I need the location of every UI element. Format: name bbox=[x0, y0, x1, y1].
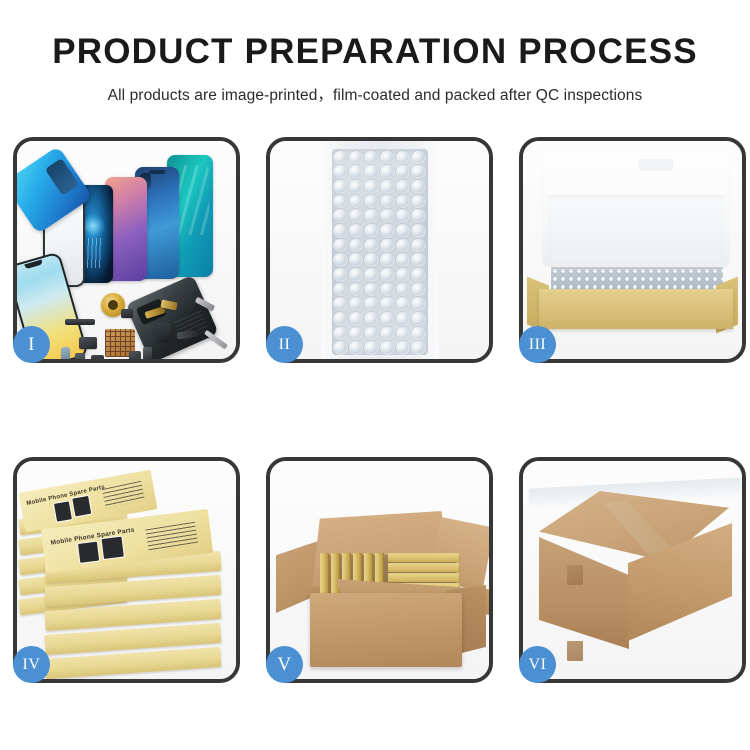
small-part bbox=[157, 323, 171, 341]
step-badge-4: IV bbox=[13, 646, 50, 683]
bubble bbox=[349, 327, 364, 341]
bubble bbox=[349, 283, 364, 297]
bubble bbox=[349, 151, 364, 165]
retail-box-stack: Mobile Phone Spare PartsMobile Phone Spa… bbox=[17, 461, 236, 679]
bubble bbox=[333, 165, 348, 179]
bubble bbox=[364, 195, 379, 209]
step-badge-3: III bbox=[519, 326, 556, 363]
bubble bbox=[333, 268, 348, 282]
bubble bbox=[411, 268, 426, 282]
bubble bbox=[349, 209, 364, 223]
bubble bbox=[333, 209, 348, 223]
carton-handle-cutout bbox=[567, 565, 583, 585]
small-part bbox=[75, 353, 85, 359]
sim-tray-part bbox=[61, 347, 70, 359]
step-badge-6: VI bbox=[519, 646, 556, 683]
bubble bbox=[333, 180, 348, 194]
bubble bbox=[411, 209, 426, 223]
bubble bbox=[411, 341, 426, 355]
bubble bbox=[364, 151, 379, 165]
small-part bbox=[129, 351, 141, 359]
bubble bbox=[411, 195, 426, 209]
bubble bbox=[349, 341, 364, 355]
bubble bbox=[364, 224, 379, 238]
bubble bbox=[364, 312, 379, 326]
step-badge-2: II bbox=[266, 326, 303, 363]
disassembled-phone-chassis bbox=[125, 275, 219, 359]
bubble bbox=[333, 253, 348, 267]
bubble bbox=[380, 268, 395, 282]
bubble bbox=[396, 253, 411, 267]
bubble bbox=[333, 341, 348, 355]
bubble bbox=[396, 239, 411, 253]
step-3-image bbox=[523, 141, 742, 359]
bubble bbox=[380, 165, 395, 179]
bubble bbox=[333, 151, 348, 165]
sealed-carton-left-panel bbox=[539, 537, 629, 649]
bubble bbox=[364, 239, 379, 253]
box-product-image bbox=[101, 536, 125, 561]
bubble bbox=[380, 180, 395, 194]
bubble bbox=[411, 253, 426, 267]
bubble bbox=[411, 224, 426, 238]
step-1-image bbox=[17, 141, 236, 359]
process-step-grid: I II III bbox=[13, 137, 737, 682]
header: PRODUCT PREPARATION PROCESS All products… bbox=[0, 0, 750, 105]
bubble bbox=[396, 165, 411, 179]
bubble bbox=[364, 297, 379, 311]
bubble bbox=[380, 253, 395, 267]
bubble bbox=[349, 312, 364, 326]
bubble bbox=[364, 283, 379, 297]
tweezers-tool bbox=[204, 330, 228, 349]
carton-front-panel bbox=[310, 593, 462, 667]
lid-tab-icon bbox=[639, 159, 673, 171]
bubble bbox=[411, 283, 426, 297]
bubble bbox=[396, 268, 411, 282]
bubble bbox=[411, 165, 426, 179]
small-part bbox=[79, 337, 97, 349]
process-step-panel-1: I bbox=[13, 137, 240, 363]
bubble bbox=[364, 180, 379, 194]
bubble bbox=[364, 165, 379, 179]
box-spec-lines bbox=[102, 481, 145, 509]
bubble-wrap-sheet bbox=[332, 149, 428, 355]
small-part bbox=[121, 309, 133, 318]
bubble bbox=[349, 224, 364, 238]
bubble bbox=[349, 239, 364, 253]
bubble bbox=[364, 341, 379, 355]
bubble bbox=[333, 224, 348, 238]
bubble bbox=[349, 253, 364, 267]
step-5-image bbox=[270, 461, 489, 679]
speaker-bar-part bbox=[65, 319, 95, 325]
phone-notch-icon bbox=[149, 170, 165, 174]
small-part bbox=[91, 355, 104, 359]
box-spec-lines bbox=[146, 522, 199, 552]
bubble bbox=[396, 180, 411, 194]
process-step-panel-2: II bbox=[266, 137, 493, 363]
bubble bbox=[411, 151, 426, 165]
bubble bbox=[380, 341, 395, 355]
step-badge-5: V bbox=[266, 646, 303, 683]
bubble bbox=[364, 268, 379, 282]
bubble bbox=[396, 224, 411, 238]
bubble bbox=[411, 239, 426, 253]
bubble bbox=[396, 283, 411, 297]
bubble bbox=[396, 312, 411, 326]
step-6-image bbox=[523, 461, 742, 679]
packed-retail-box bbox=[388, 553, 460, 562]
front-notch-icon bbox=[24, 259, 43, 269]
bubble bbox=[349, 268, 364, 282]
process-step-panel-3: III bbox=[519, 137, 746, 363]
bubble bbox=[333, 283, 348, 297]
bubble bbox=[380, 239, 395, 253]
white-box-lid-fold bbox=[549, 195, 723, 257]
bubble bbox=[380, 312, 395, 326]
bubble bbox=[396, 209, 411, 223]
process-step-panel-4: Mobile Phone Spare PartsMobile Phone Spa… bbox=[13, 457, 240, 683]
bubble bbox=[349, 165, 364, 179]
bubble bbox=[364, 209, 379, 223]
page-title: PRODUCT PREPARATION PROCESS bbox=[0, 34, 750, 71]
bubble bbox=[333, 195, 348, 209]
bubble bbox=[333, 239, 348, 253]
process-step-panel-6: VI bbox=[519, 457, 746, 683]
bubble bbox=[411, 327, 426, 341]
step-4-image: Mobile Phone Spare PartsMobile Phone Spa… bbox=[17, 461, 236, 679]
product-preparation-infographic: PRODUCT PREPARATION PROCESS All products… bbox=[0, 0, 750, 750]
bubble bbox=[396, 297, 411, 311]
process-step-panel-5: V bbox=[266, 457, 493, 683]
bubble bbox=[396, 195, 411, 209]
bubble bbox=[380, 297, 395, 311]
bubble bbox=[364, 327, 379, 341]
bubble bbox=[349, 180, 364, 194]
page-subtitle: All products are image-printed，film-coat… bbox=[0, 83, 750, 105]
bubble bbox=[411, 180, 426, 194]
box-product-image bbox=[77, 541, 101, 565]
bubble bbox=[396, 327, 411, 341]
bubble bbox=[396, 341, 411, 355]
bubble bbox=[380, 327, 395, 341]
bubble bbox=[380, 283, 395, 297]
packed-retail-box bbox=[388, 563, 460, 572]
bubble bbox=[380, 224, 395, 238]
bubble bbox=[380, 209, 395, 223]
kraft-box-front-panel bbox=[539, 289, 733, 329]
box-product-image bbox=[72, 495, 93, 518]
bubble bbox=[333, 312, 348, 326]
step-2-image bbox=[270, 141, 489, 359]
bubble bbox=[380, 195, 395, 209]
bubble bbox=[411, 297, 426, 311]
bubble bbox=[380, 151, 395, 165]
box-product-image bbox=[53, 500, 74, 522]
bubble bbox=[349, 297, 364, 311]
step-badge-1: I bbox=[13, 326, 50, 363]
bubble bbox=[333, 297, 348, 311]
bubble bbox=[411, 312, 426, 326]
bubble bbox=[333, 327, 348, 341]
jellyfish-tentacles-icon bbox=[84, 238, 102, 268]
small-part bbox=[143, 347, 152, 359]
packed-retail-box bbox=[388, 573, 460, 582]
bubble bbox=[349, 195, 364, 209]
bubble bbox=[396, 151, 411, 165]
bubble bbox=[364, 253, 379, 267]
carton-handle-cutout bbox=[567, 641, 583, 661]
